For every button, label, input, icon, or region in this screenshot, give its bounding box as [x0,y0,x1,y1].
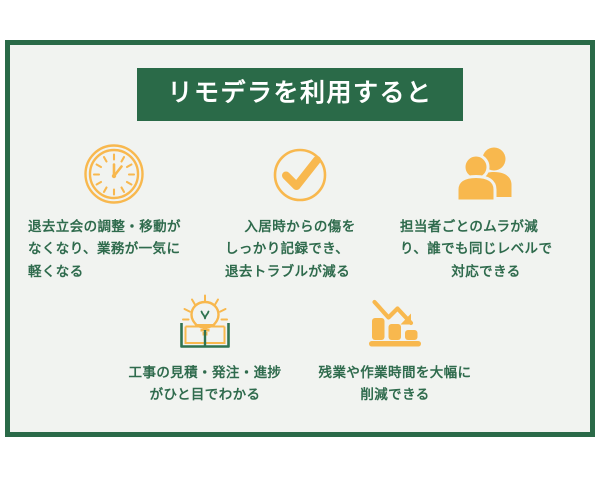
benefit-caption-4: 工事の見積・発注・進捗 がひと目でわかる [114,362,296,407]
benefit-caption-1: 退去立会の調整・移動が なくなり、業務が一気に 軽くなる [28,216,200,283]
title-container: リモデラを利用すると [10,68,590,121]
benefit-item-1: 退去立会の調整・移動が なくなり、業務が一気に 軽くなる [21,143,207,283]
slide-body: リモデラを利用すると [10,45,590,432]
caption-line: 軽くなる [28,261,200,283]
caption-line: 工事の見積・発注・進捗 [114,362,296,384]
caption-line: なくなり、業務が一気に [28,238,200,260]
caption-line: 退去立会の調整・移動が [28,216,200,238]
caption-line: 担当者ごとのムラが減 [400,216,572,238]
benefit-caption-2: 入居時からの傷を しっかり記録でき、 退去トラブルが減る [225,216,375,283]
benefits-row-bottom: 工事の見積・発注・進捗 がひと目でわかる [10,293,590,407]
icon-container [270,143,330,205]
caption-line: 残業や作業時間を大幅に [304,362,486,384]
caption-line: 退去トラブルが減る [225,261,375,283]
caption-line: しっかり記録でき、 [225,238,375,260]
clock-icon [83,143,145,205]
benefit-item-5: 残業や作業時間を大幅に 削減できる [300,293,490,407]
caption-line: 対応できる [400,261,572,283]
caption-line: 削減できる [304,384,486,406]
icon-container [366,293,424,351]
benefit-item-3: 担当者ごとのムラが減 り、誰でも同じレベルで 対応できる [393,143,579,283]
declining-bar-chart-icon [366,295,424,349]
caption-line: がひと目でわかる [114,384,296,406]
users-icon [450,145,522,203]
page-title: リモデラを利用すると [137,68,462,121]
benefit-caption-5: 残業や作業時間を大幅に 削減できる [304,362,486,407]
check-circle-icon [270,144,330,204]
lightbulb-book-icon [176,294,234,350]
icon-container [450,143,522,205]
caption-line: り、誰でも同じレベルで [400,238,572,260]
slide-frame: リモデラを利用すると [5,40,595,437]
icon-container [176,293,234,351]
benefit-item-4: 工事の見積・発注・進捗 がひと目でわかる [110,293,300,407]
icon-container [83,143,145,205]
benefits-row-top: 退去立会の調整・移動が なくなり、業務が一気に 軽くなる 入居時からの傷を しっ… [10,143,590,283]
benefit-caption-3: 担当者ごとのムラが減 り、誰でも同じレベルで 対応できる [400,216,572,283]
caption-line: 入居時からの傷を [225,216,375,238]
benefit-item-2: 入居時からの傷を しっかり記録でき、 退去トラブルが減る [207,143,393,283]
